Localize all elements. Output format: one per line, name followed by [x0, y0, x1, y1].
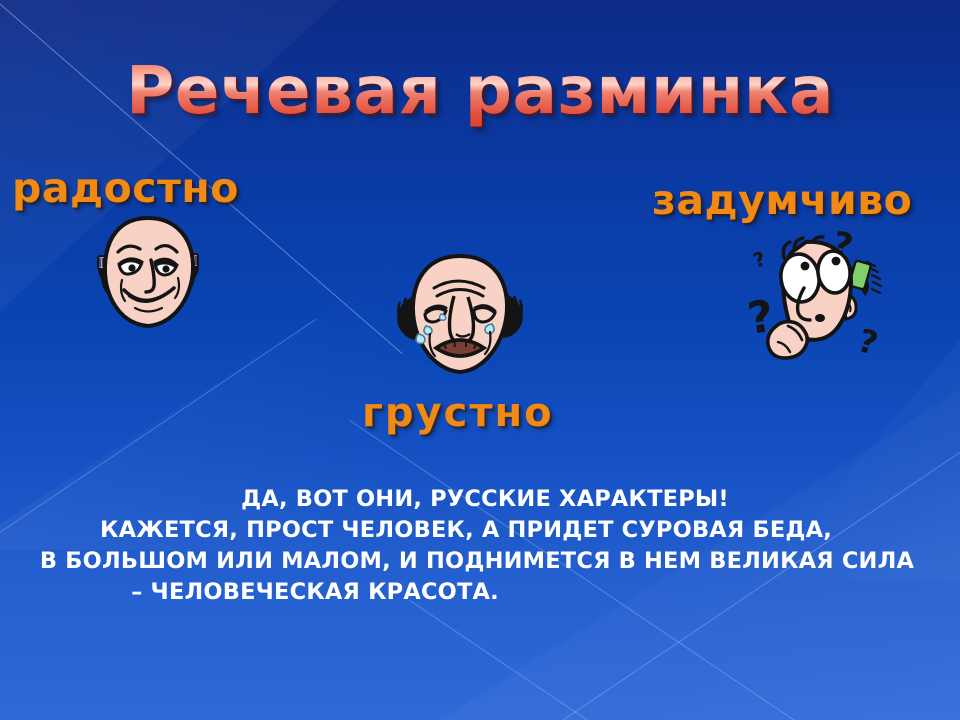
quote-line-3: В БОЛЬШОМ ИЛИ МАЛОМ, И ПОДНИМЕТСЯ В НЕМ …: [0, 546, 960, 577]
mood-label-thoughtful: задумчиво: [652, 176, 912, 224]
mood-label-sad: грустно: [362, 390, 554, 436]
quote-line-2: КАЖЕТСЯ, ПРОСТ ЧЕЛОВЕК, А ПРИДЕТ СУРОВАЯ…: [0, 515, 960, 546]
quote-line-4: – ЧЕЛОВЕЧЕСКАЯ КРАСОТА.: [0, 577, 960, 608]
mood-label-happy: радостно: [12, 164, 239, 212]
quote-text-block: ДА, ВОТ ОНИ, РУССКИЕ ХАРАКТЕРЫ! КАЖЕТСЯ,…: [0, 484, 960, 608]
presentation-slide: Речевая разминка радостно задумчиво грус…: [0, 0, 960, 720]
quote-line-1: ДА, ВОТ ОНИ, РУССКИЕ ХАРАКТЕРЫ!: [0, 484, 960, 515]
crying-face-icon: [392, 248, 528, 378]
svg-text:?: ?: [854, 321, 882, 363]
thinking-face-icon: ? ? ? ?: [748, 222, 900, 372]
svg-text:?: ?: [750, 246, 768, 272]
smiling-face-icon: [88, 212, 208, 332]
slide-title: Речевая разминка: [0, 52, 960, 129]
